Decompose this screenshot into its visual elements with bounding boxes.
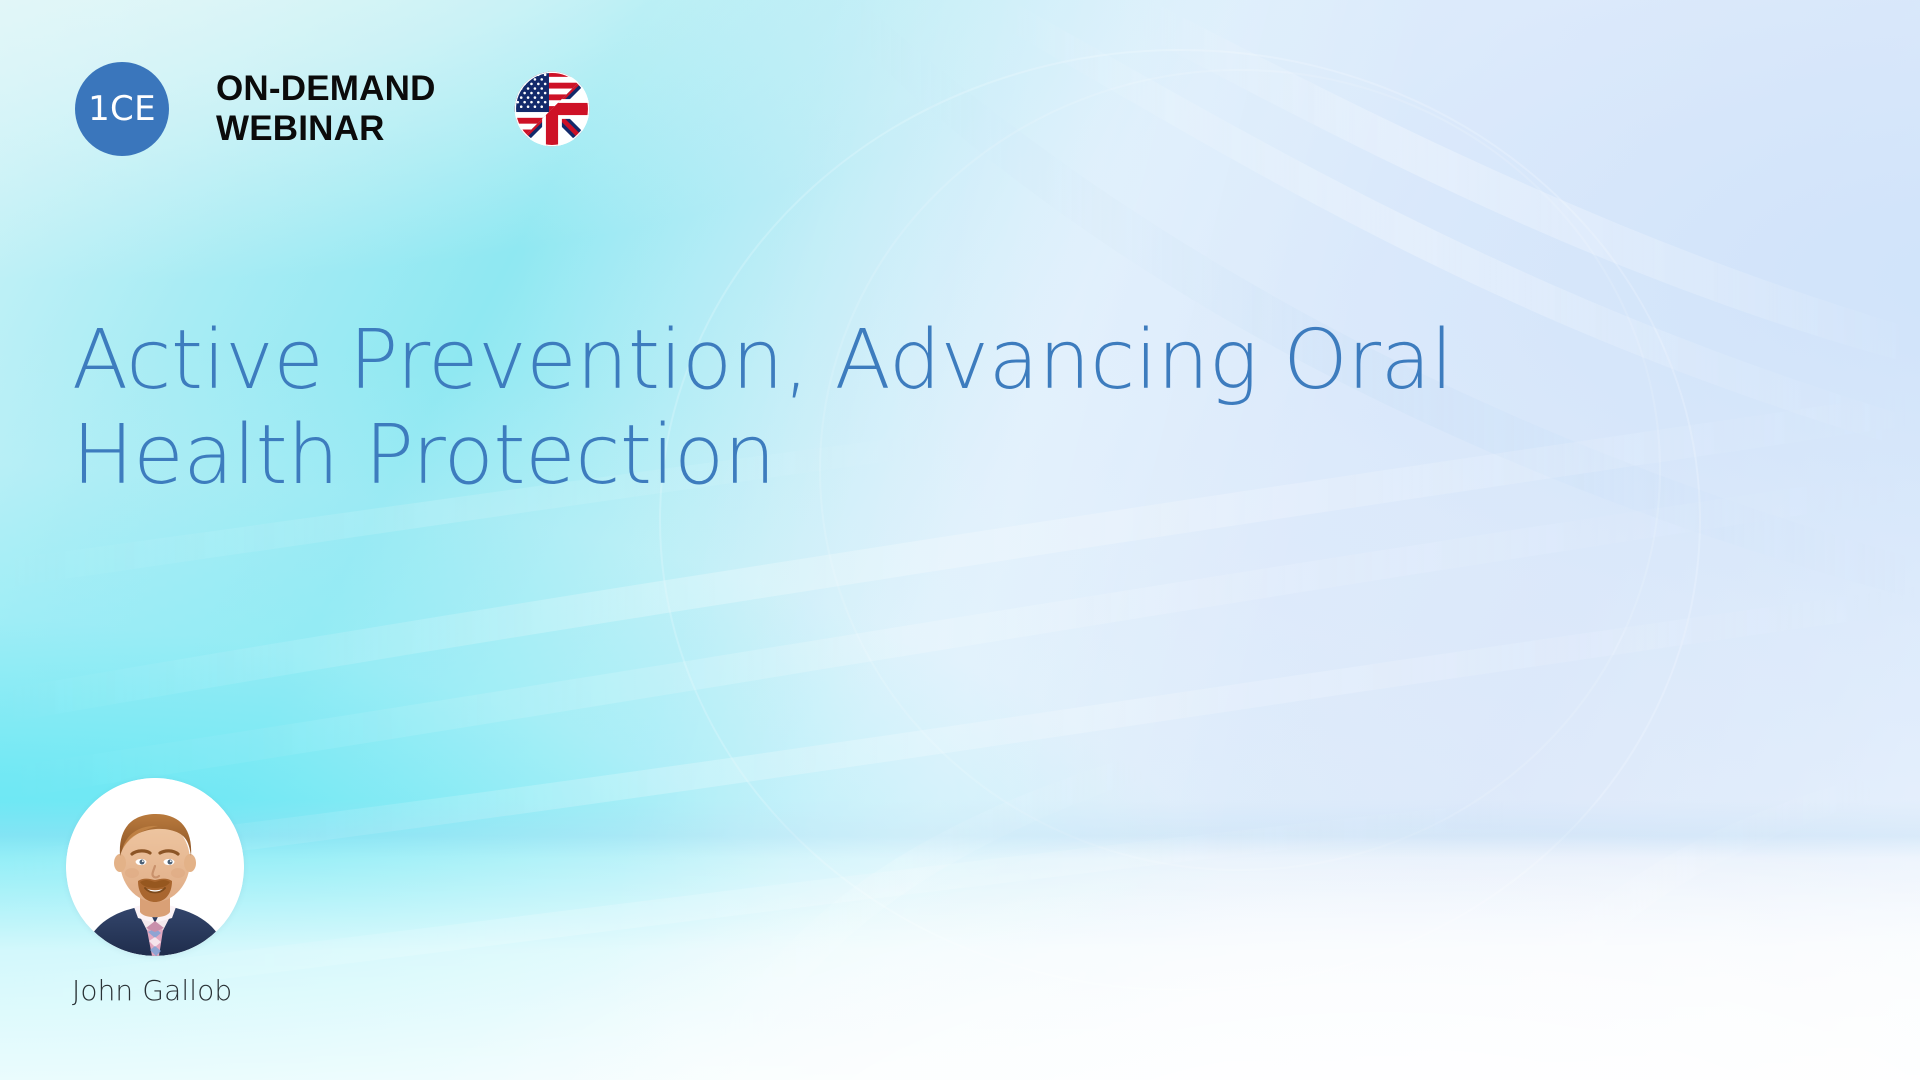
ce-credit-badge-label: 1CE — [88, 92, 156, 126]
speaker-name: John Gallob — [72, 974, 244, 1007]
webinar-type-label: ON-DEMAND WEBINAR — [216, 69, 436, 149]
webinar-title-card: 1CE ON-DEMAND WEBINAR — [0, 0, 1920, 1080]
header: 1CE ON-DEMAND WEBINAR — [75, 62, 590, 156]
speaker-avatar — [66, 778, 244, 956]
page-title: Active Prevention, Advancing Oral Health… — [72, 313, 1752, 503]
background-sheen — [0, 0, 1920, 1080]
speaker-block: John Gallob — [66, 778, 244, 1007]
ce-credit-badge: 1CE — [75, 62, 169, 156]
us-uk-flag-icon — [514, 71, 590, 147]
